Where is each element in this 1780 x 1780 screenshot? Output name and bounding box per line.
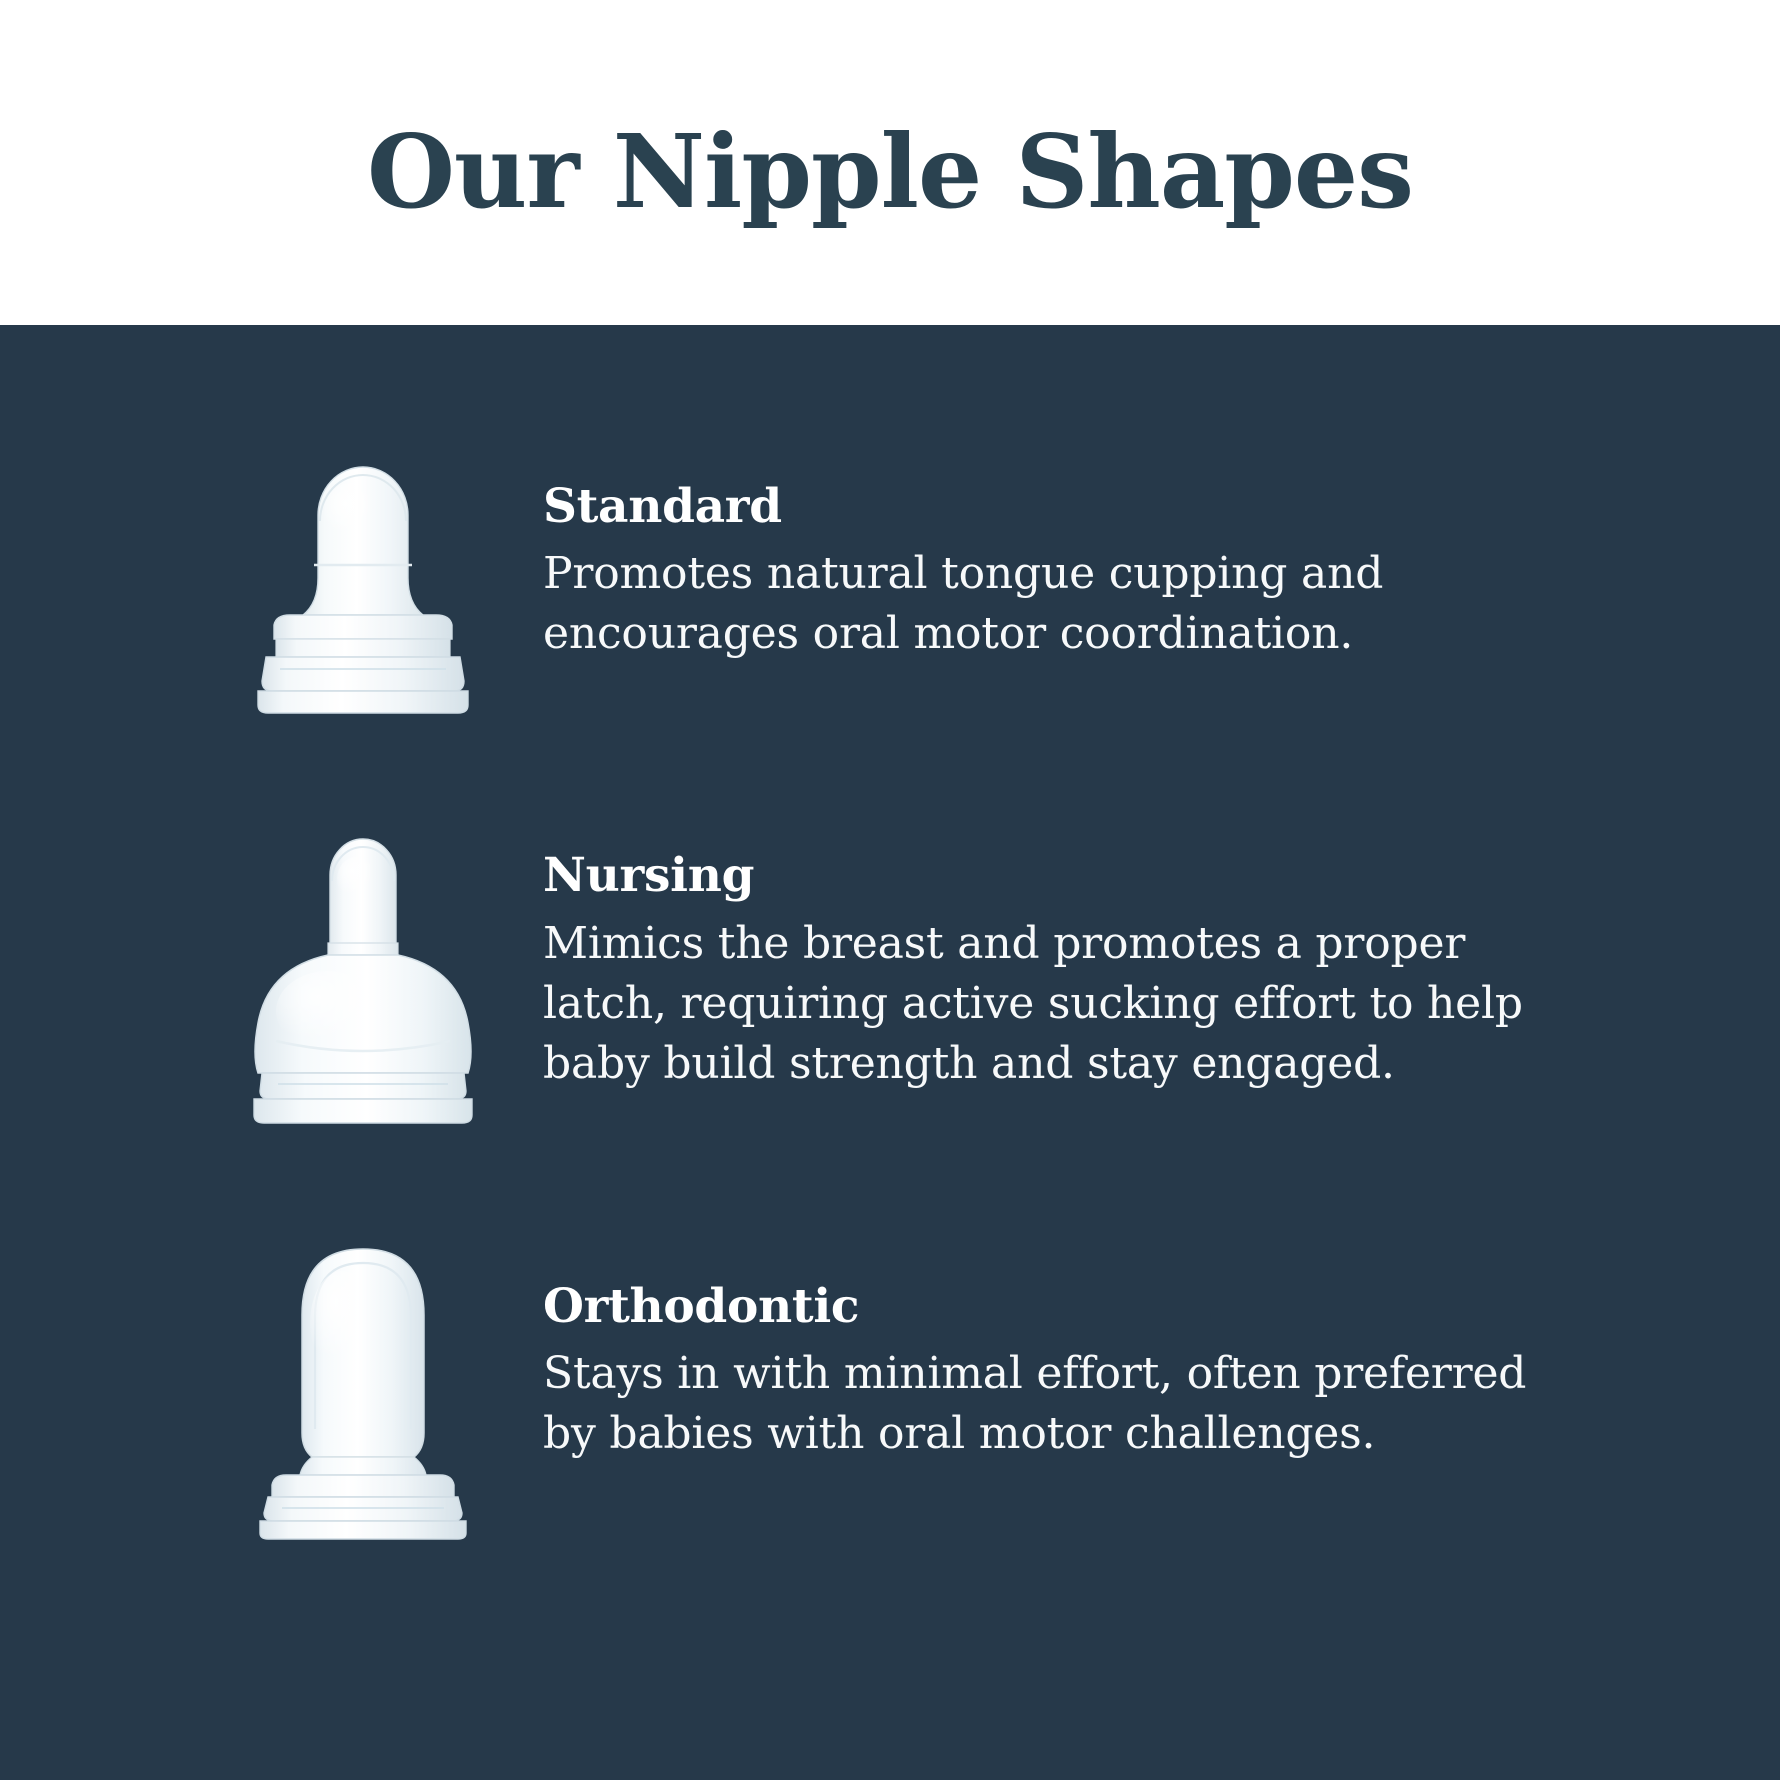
item-title-nursing: Nursing bbox=[543, 851, 1553, 900]
item-description-standard: Promotes natural tongue cupping and enco… bbox=[543, 544, 1423, 665]
content-panel: Standard Promotes natural tongue cupping… bbox=[0, 325, 1780, 1780]
nursing-nipple-photo bbox=[210, 803, 515, 1143]
standard-nipple-icon bbox=[218, 443, 508, 743]
list-item: Nursing Mimics the breast and promotes a… bbox=[0, 773, 1780, 1173]
nursing-text-block: Nursing Mimics the breast and promotes a… bbox=[515, 851, 1553, 1094]
standard-text-block: Standard Promotes natural tongue cupping… bbox=[515, 482, 1423, 665]
item-description-orthodontic: Stays in with minimal effort, often pref… bbox=[543, 1344, 1553, 1465]
header-band: Our Nipple Shapes bbox=[0, 0, 1780, 325]
item-title-standard: Standard bbox=[543, 482, 1423, 531]
standard-nipple-photo bbox=[210, 403, 515, 743]
list-item: Orthodontic Stays in with minimal effort… bbox=[0, 1173, 1780, 1573]
orthodontic-nipple-icon bbox=[218, 1223, 508, 1543]
shape-list: Standard Promotes natural tongue cupping… bbox=[0, 325, 1780, 1780]
orthodontic-nipple-photo bbox=[210, 1203, 515, 1543]
nursing-nipple-icon bbox=[218, 823, 508, 1143]
item-description-nursing: Mimics the breast and promotes a proper … bbox=[543, 914, 1553, 1095]
page-title: Our Nipple Shapes bbox=[367, 103, 1413, 222]
item-title-orthodontic: Orthodontic bbox=[543, 1282, 1553, 1331]
list-item: Standard Promotes natural tongue cupping… bbox=[0, 373, 1780, 773]
orthodontic-text-block: Orthodontic Stays in with minimal effort… bbox=[515, 1282, 1553, 1465]
nipple-shapes-infographic: Our Nipple Shapes bbox=[0, 0, 1780, 1780]
